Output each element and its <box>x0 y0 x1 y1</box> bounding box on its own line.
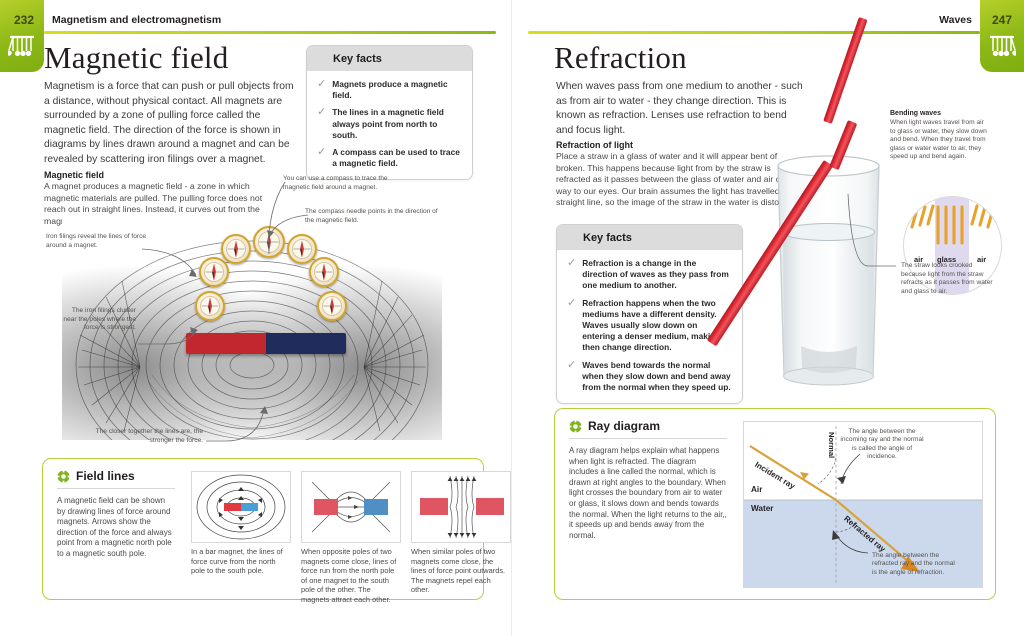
left-intro-text: Magnetism is a force that can push or pu… <box>44 80 299 168</box>
check-icon: ✓ <box>317 107 326 141</box>
right-header-rule <box>528 31 980 34</box>
field-lines-panel-body: A magnetic field can be shown by drawing… <box>57 496 175 560</box>
figure-similar-poles <box>411 471 511 543</box>
field-lines-panel: Field lines A magnetic field can be show… <box>42 458 484 600</box>
right-key-facts-title: Key facts <box>557 225 742 250</box>
compass <box>221 234 251 264</box>
ray-diagram-panel: Ray diagram A ray diagram helps explain … <box>554 408 996 600</box>
figure-caption: In a bar magnet, the lines of force curv… <box>191 547 289 576</box>
newtons-cradle-icon <box>8 34 36 60</box>
book-spread: 232 Magnetism and electromagnetism Magne… <box>0 0 1024 636</box>
gear-icon <box>569 420 582 433</box>
ray-diagram-figure: The angle between the incoming ray and t… <box>743 421 983 588</box>
bar-magnet <box>186 333 346 354</box>
note-angle-of-refraction: The angle between the refracted ray and … <box>872 552 960 577</box>
right-page-corner-tab: 247 <box>980 0 1024 72</box>
leader-line <box>136 318 200 348</box>
check-icon: ✓ <box>317 147 326 169</box>
left-key-facts-title: Key facts <box>307 46 472 71</box>
newtons-cradle-icon <box>988 34 1016 60</box>
key-fact-item: ✓ Magnets produce a magnetic field. <box>317 79 462 101</box>
annotation-compass-use: You can use a compass to trace the magne… <box>283 175 413 192</box>
left-key-facts-list: ✓ Magnets produce a magnetic field. ✓ Th… <box>307 71 472 179</box>
left-key-facts-box: Key facts ✓ Magnets produce a magnetic f… <box>306 45 473 180</box>
leader-line <box>140 245 220 290</box>
panel-divider <box>569 438 727 439</box>
annotation-bending-waves-body: When light waves travel from air to glas… <box>890 119 988 162</box>
key-fact-item: ✓ A compass can be used to trace a magne… <box>317 147 462 169</box>
annotation-filings-cluster: The iron filings cluster near the poles … <box>58 307 136 333</box>
field-lines-panel-header: Field lines <box>57 469 175 483</box>
left-page-corner-tab: 232 <box>0 0 44 72</box>
check-icon: ✓ <box>567 298 576 354</box>
ray-diagram-panel-body: A ray diagram helps explain what happens… <box>569 446 727 541</box>
key-fact-item: ✓ The lines in a magnetic field always p… <box>317 107 462 141</box>
compass <box>317 291 347 321</box>
ray-diagram-panel-title: Ray diagram <box>588 419 660 433</box>
magnet-south-pole <box>266 333 346 354</box>
label-water: Water <box>751 504 773 513</box>
right-running-head: Waves <box>939 14 972 26</box>
note-angle-of-incidence: The angle between the incoming ray and t… <box>840 428 924 462</box>
panel-divider <box>57 488 175 489</box>
leader-line <box>842 188 902 270</box>
label-normal: Normal <box>827 432 836 458</box>
compass <box>309 257 339 287</box>
compass <box>195 291 225 321</box>
annotation-bending-waves-title: Bending waves <box>890 110 941 119</box>
check-icon: ✓ <box>567 258 576 292</box>
left-page: 232 Magnetism and electromagnetism Magne… <box>0 0 512 636</box>
right-page-number: 247 <box>992 13 1012 27</box>
left-running-head: Magnetism and electromagnetism <box>52 14 221 26</box>
right-page: 247 Waves Refraction When waves pass fro… <box>512 0 1024 636</box>
figure-opposite-poles <box>301 471 401 543</box>
left-page-number: 232 <box>14 13 34 27</box>
figure-caption: When similar poles of two magnets come c… <box>411 547 509 595</box>
left-header-rule <box>44 31 496 34</box>
check-icon: ✓ <box>317 79 326 101</box>
key-fact-item: ✓ Waves bend towards the normal when the… <box>567 360 732 394</box>
annotation-straw-crooked: The straw looks crooked because light fr… <box>901 262 993 296</box>
annotation-iron-filings: Iron filings reveal the lines of force a… <box>46 233 151 250</box>
annotation-closer-lines: The closer together the lines are, the s… <box>88 428 203 445</box>
check-icon: ✓ <box>567 360 576 394</box>
field-lines-panel-title: Field lines <box>76 469 135 483</box>
key-fact-item: ✓ Refraction is a change in the directio… <box>567 258 732 292</box>
right-key-facts-box: Key facts ✓ Refraction is a change in th… <box>556 224 743 404</box>
leader-line <box>266 212 310 240</box>
right-page-title: Refraction <box>554 40 687 76</box>
key-fact-item: ✓ Refraction happens when the two medium… <box>567 298 732 354</box>
ray-diagram-panel-header: Ray diagram <box>569 419 727 433</box>
annotation-compass-needle: The compass needle points in the directi… <box>305 208 440 225</box>
figure-caption: When opposite poles of two magnets come … <box>301 547 399 605</box>
label-air: Air <box>751 485 762 494</box>
figure-bar-magnet-field <box>191 471 291 543</box>
left-page-title: Magnetic field <box>44 40 228 76</box>
left-section-heading: Magnetic field <box>44 170 276 180</box>
leader-line <box>204 405 274 447</box>
gear-icon <box>57 470 70 483</box>
